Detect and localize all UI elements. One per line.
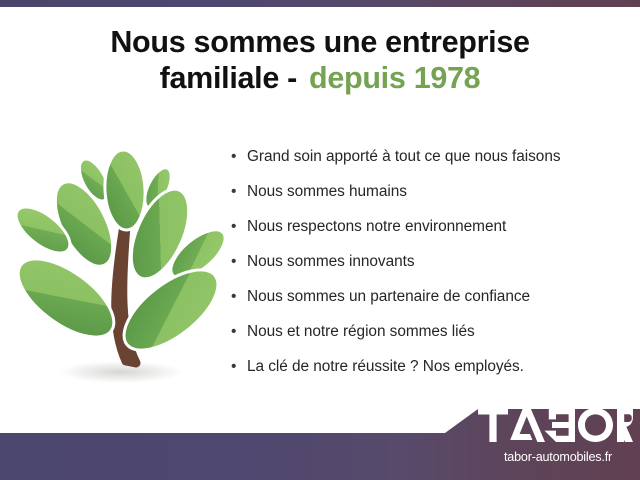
- brand-logo[interactable]: tabor-automobiles.fr: [478, 408, 638, 474]
- page-title: Nous sommes une entreprise familiale -de…: [0, 26, 640, 94]
- title-line-2-text: familiale -: [160, 61, 297, 95]
- tree-shadow: [59, 361, 183, 383]
- benefits-list: • Grand soin apporté à tout ce que nous …: [231, 148, 631, 393]
- title-highlight-year: depuis 1978: [309, 61, 480, 95]
- list-item: • Nous sommes un partenaire de confiance: [231, 288, 631, 323]
- logo-tagline: tabor-automobiles.fr: [483, 450, 633, 464]
- bullet-marker-icon: •: [231, 184, 247, 200]
- bullet-marker-icon: •: [231, 289, 247, 305]
- bullet-marker-icon: •: [231, 149, 247, 165]
- tabor-wordmark-icon: [478, 408, 633, 442]
- title-line-1: Nous sommes une entreprise: [0, 26, 640, 59]
- list-item: • Nous et notre région sommes liés: [231, 323, 631, 358]
- list-item-label: Grand soin apporté à tout ce que nous fa…: [247, 148, 560, 166]
- top-accent-bar: [0, 0, 640, 7]
- list-item-label: Nous sommes innovants: [247, 253, 414, 271]
- tree-illustration: [8, 150, 233, 390]
- bullet-marker-icon: •: [231, 254, 247, 270]
- list-item: • Nous sommes humains: [231, 183, 631, 218]
- bullet-marker-icon: •: [231, 219, 247, 235]
- list-item: • Grand soin apporté à tout ce que nous …: [231, 148, 631, 183]
- list-item-label: Nous sommes humains: [247, 183, 407, 201]
- list-item-label: Nous respectons notre environnement: [247, 218, 506, 236]
- slide-canvas: Nous sommes une entreprise familiale -de…: [0, 0, 640, 480]
- list-item: • La clé de notre réussite ? Nos employé…: [231, 358, 631, 393]
- list-item: • Nous respectons notre environnement: [231, 218, 631, 253]
- title-line-2: familiale -depuis 1978: [0, 62, 640, 95]
- bullet-marker-icon: •: [231, 324, 247, 340]
- list-item-label: La clé de notre réussite ? Nos employés.: [247, 358, 524, 376]
- bullet-marker-icon: •: [231, 359, 247, 375]
- list-item: • Nous sommes innovants: [231, 253, 631, 288]
- list-item-label: Nous sommes un partenaire de confiance: [247, 288, 530, 306]
- list-item-label: Nous et notre région sommes liés: [247, 323, 475, 341]
